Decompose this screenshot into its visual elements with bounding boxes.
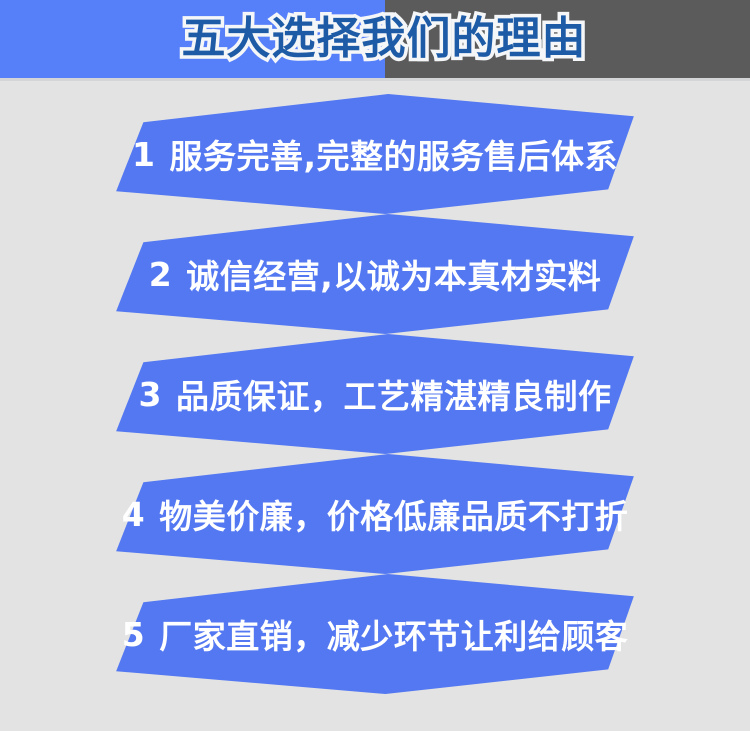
reason-banner-shape-1: [113, 94, 637, 214]
reason-item-4: 4 物美价廉，价格低廉品质不打折: [0, 454, 750, 579]
reason-item-2: 2 诚信经营,以诚为本真材实料: [0, 214, 750, 339]
page-header: 五大选择我们的理由: [0, 0, 750, 78]
promo-banner-page: 五大选择我们的理由 1 服务完善,完整的服务售后体系 2 诚信经营,以诚为本真材…: [0, 0, 750, 731]
reason-item-3: 3 品质保证，工艺精湛精良制作: [0, 334, 750, 459]
reason-item-5: 5 厂家直销，减少环节让利给顾客: [0, 574, 750, 699]
page-title: 五大选择我们的理由: [0, 0, 750, 78]
reason-item-1: 1 服务完善,完整的服务售后体系: [0, 94, 750, 219]
reasons-list: 1 服务完善,完整的服务售后体系 2 诚信经营,以诚为本真材实料 3 品质保证，…: [0, 78, 750, 731]
reason-banner-shape-5: [113, 574, 637, 694]
reason-banner-shape-4: [113, 454, 637, 574]
reason-banner-shape-3: [113, 334, 637, 454]
reason-banner-shape-2: [113, 214, 637, 334]
